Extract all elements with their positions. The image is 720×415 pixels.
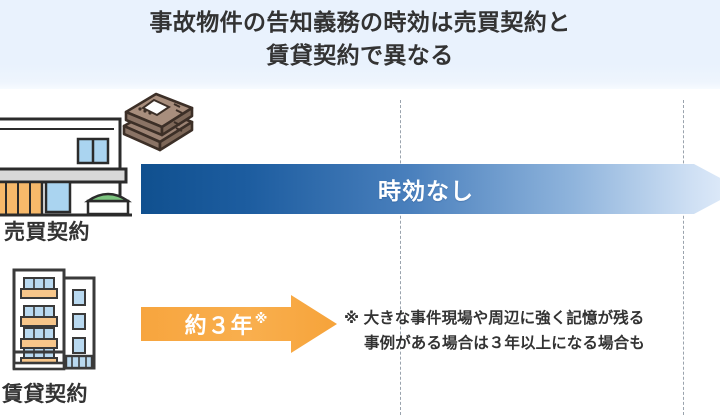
lease-duration-arrow [141, 295, 341, 353]
footnote-text: ※ 大きな事件現場や周辺に強く記憶が残る 事例がある場合は３年以上になる場合も [344, 306, 720, 356]
category-label-lease: 賃貸契約 [2, 378, 88, 408]
guide-line-1 [400, 100, 401, 415]
infographic-canvas: 事故物件の告知義務の時効は売買契約と 賃貸契約で異なる [0, 0, 720, 415]
sale-timeline-bar [141, 164, 720, 214]
category-label-sale: 売買契約 [4, 216, 90, 246]
guide-line-2 [683, 100, 684, 415]
apartment-building-icon [12, 264, 98, 376]
money-stack-icon [112, 90, 204, 152]
page-title: 事故物件の告知義務の時効は売買契約と 賃貸契約で異なる [0, 6, 720, 72]
